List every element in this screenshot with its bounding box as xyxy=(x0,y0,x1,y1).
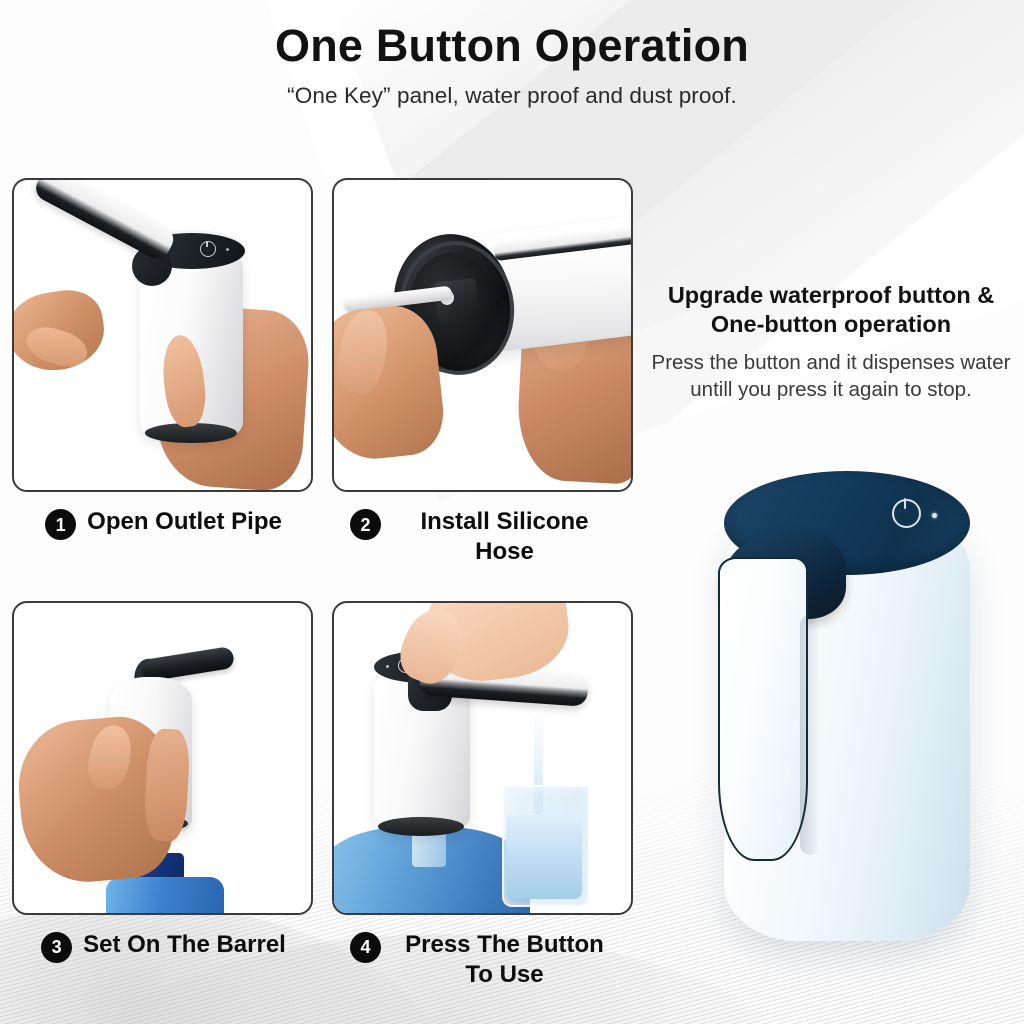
step-4-artwork xyxy=(334,603,631,913)
step-3-image xyxy=(12,601,313,915)
feature-callout: Upgrade waterproof button & One-button o… xyxy=(645,281,1017,403)
page-title: One Button Operation xyxy=(0,22,1024,70)
step-1-artwork xyxy=(14,180,311,490)
step-1-image xyxy=(12,178,313,492)
power-icon xyxy=(892,499,921,528)
step-4-caption: 4 Press The Button To Use xyxy=(332,930,635,991)
page-subtitle: “One Key” panel, water proof and dust pr… xyxy=(0,83,1024,109)
step-1-badge: 1 xyxy=(45,509,76,540)
step-4-badge: 4 xyxy=(350,932,381,963)
steps-grid: 1 Open Outlet Pipe xyxy=(12,178,637,991)
steps-row-bottom: 3 Set On The Barrel xyxy=(12,601,637,991)
water-barrel xyxy=(106,877,224,915)
row-spacer xyxy=(12,568,637,601)
step-3-artwork xyxy=(14,603,311,913)
feature-heading-line-2: One-button operation xyxy=(711,311,951,337)
feature-heading-line-1: Upgrade waterproof button & xyxy=(668,282,994,308)
outlet-pipe-arm xyxy=(32,178,178,263)
dispenser-base xyxy=(378,817,464,836)
step-2-badge: 2 xyxy=(350,509,381,540)
hero-spout-arm-face xyxy=(718,557,808,861)
step-3-caption: 3 Set On The Barrel xyxy=(12,930,315,963)
step-4: 4 Press The Button To Use xyxy=(332,601,635,991)
step-2-artwork xyxy=(334,180,631,490)
glass-water xyxy=(506,815,582,899)
infographic-canvas: One Button Operation “One Key” panel, wa… xyxy=(0,0,1024,1024)
feature-body-text: Press the button and it dispenses water … xyxy=(645,350,1017,403)
step-1-label: Open Outlet Pipe xyxy=(87,507,282,537)
feature-heading: Upgrade waterproof button & One-button o… xyxy=(645,281,1017,339)
power-icon xyxy=(200,241,216,257)
step-2-caption: 2 Install Silicone Hose xyxy=(332,507,635,568)
step-2-image xyxy=(332,178,633,492)
hero-product-image xyxy=(700,465,1000,955)
steps-row-top: 1 Open Outlet Pipe xyxy=(12,178,637,568)
step-4-image xyxy=(332,601,633,915)
barrel-neck xyxy=(412,831,446,867)
step-3-label: Set On The Barrel xyxy=(83,930,286,960)
step-1: 1 Open Outlet Pipe xyxy=(12,178,315,568)
step-4-label: Press The Button To Use xyxy=(392,930,617,991)
header: One Button Operation “One Key” panel, wa… xyxy=(0,22,1024,109)
step-2-label: Install Silicone Hose xyxy=(392,507,617,568)
step-3-badge: 3 xyxy=(41,932,72,963)
hero-arm-shadow xyxy=(800,615,820,855)
led-dot-icon xyxy=(932,513,937,518)
step-2: 2 Install Silicone Hose xyxy=(332,178,635,568)
step-1-caption: 1 Open Outlet Pipe xyxy=(12,507,315,540)
step-3: 3 Set On The Barrel xyxy=(12,601,315,991)
